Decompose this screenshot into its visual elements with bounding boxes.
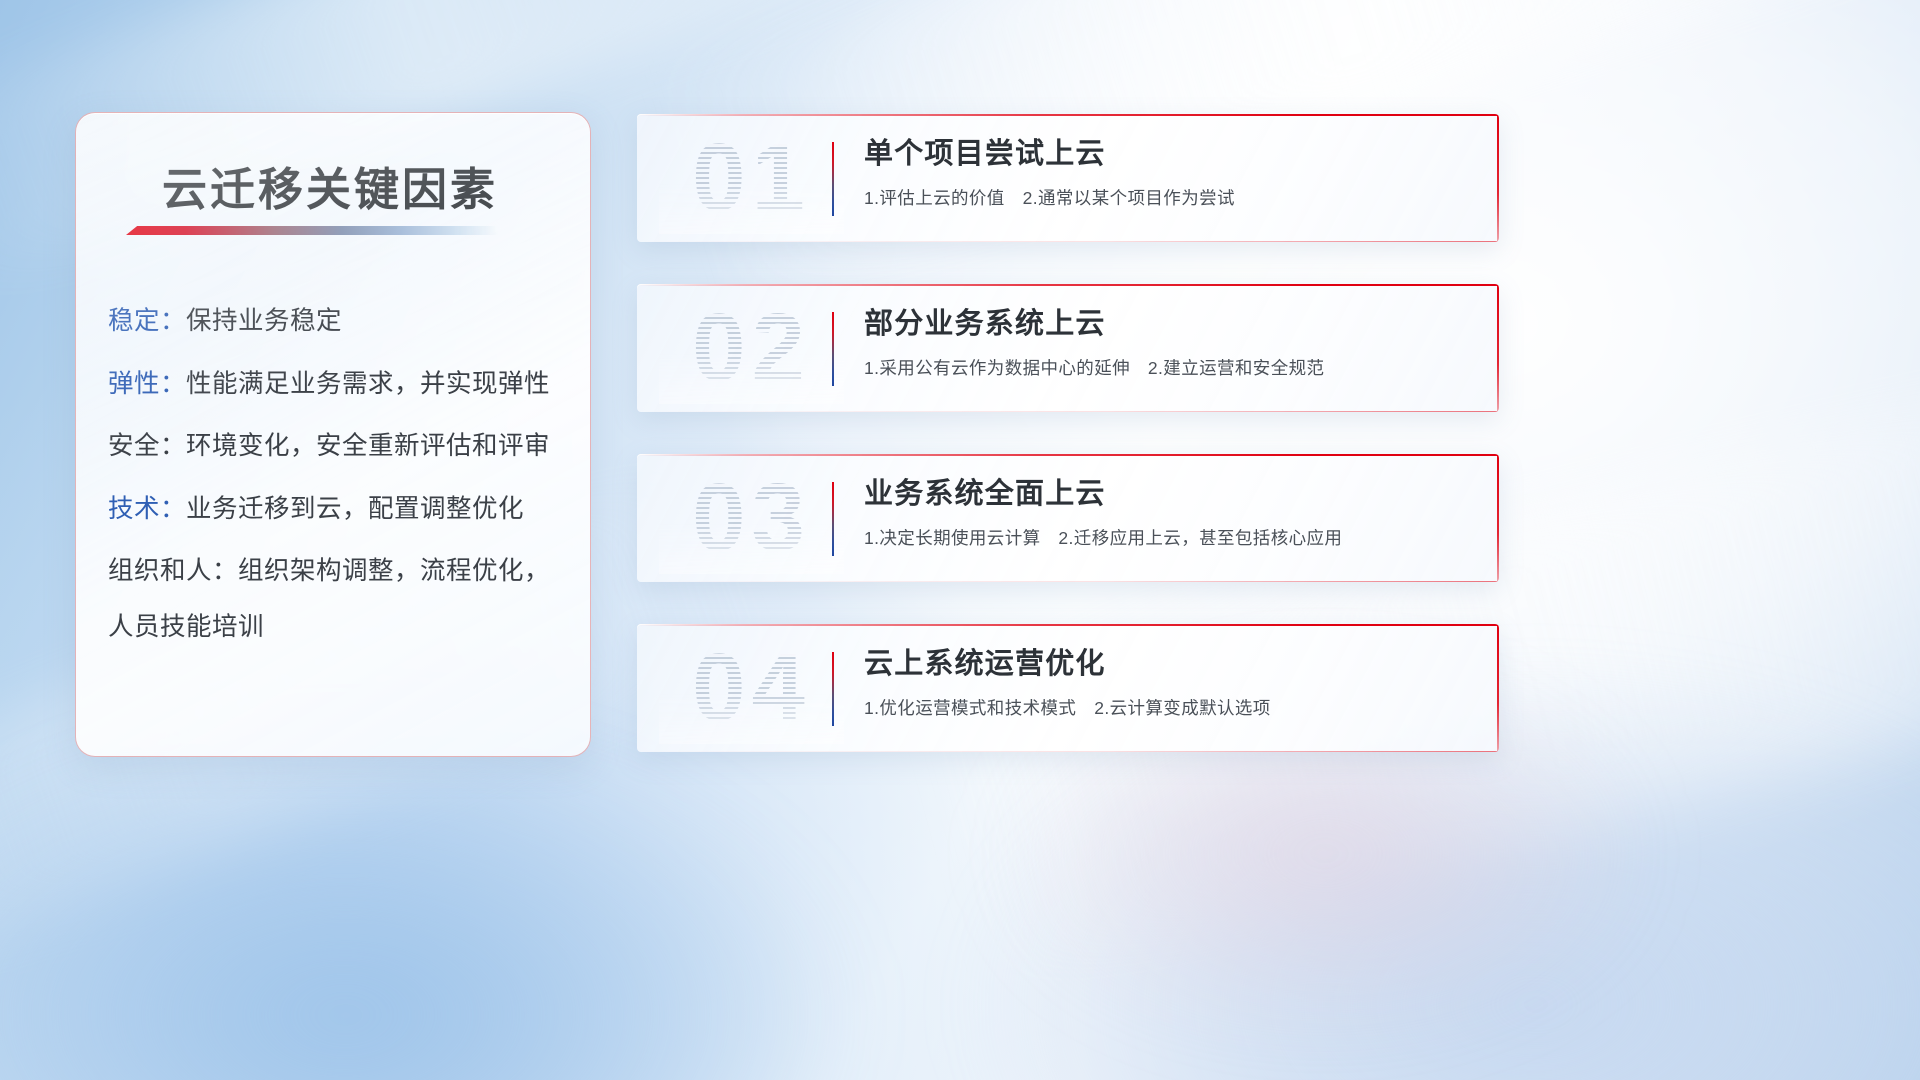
migration-steps-list: 01单个项目尝试上云1.评估上云的价值 2.通常以某个项目作为尝试02部分业务系… [637,114,1499,752]
factor-text: 环境变化，安全重新评估和评审 [186,432,550,460]
card-top-accent-line [637,454,1499,456]
step-body: 部分业务系统上云1.采用公有云作为数据中心的延伸 2.建立运营和安全规范 [833,306,1473,380]
step-description: 1.决定长期使用云计算 2.迁移应用上云，甚至包括核心应用 [864,527,1473,550]
key-factors-panel: 云迁移关键因素 稳定：保持业务稳定弹性：性能满足业务需求，并实现弹性安全：环境变… [75,112,591,757]
card-right-accent-line [1497,114,1499,242]
step-number-watermark: 02 [659,292,844,404]
factor-text: 保持业务稳定 [186,307,342,335]
step-number-watermark: 03 [659,462,844,574]
factor-text: 性能满足业务需求，并实现弹性 [186,370,550,398]
card-bottom-accent-line [637,411,1499,412]
factor-label: 组织和人： [108,557,238,585]
factor-row: 技术：业务迁移到云，配置调整优化 [108,497,570,523]
step-title: 单个项目尝试上云 [864,136,1473,172]
card-bottom-accent-line [637,241,1499,242]
step-title: 云上系统运营优化 [864,646,1473,682]
step-card[interactable]: 02部分业务系统上云1.采用公有云作为数据中心的延伸 2.建立运营和安全规范 [637,284,1499,412]
step-card[interactable]: 03业务系统全面上云1.决定长期使用云计算 2.迁移应用上云，甚至包括核心应用 [637,454,1499,582]
factor-text: 业务迁移到云，配置调整优化 [186,495,524,523]
card-top-accent-line [637,624,1499,626]
factor-list: 稳定：保持业务稳定弹性：性能满足业务需求，并实现弹性安全：环境变化，安全重新评估… [108,309,570,640]
card-top-accent-line [637,114,1499,116]
step-title: 业务系统全面上云 [864,476,1473,512]
factor-label: 弹性： [108,370,186,398]
step-description: 1.采用公有云作为数据中心的延伸 2.建立运营和安全规范 [864,357,1473,380]
factor-row: 安全：环境变化，安全重新评估和评审 [108,434,570,460]
factor-text-continuation: 人员技能培训 [108,615,570,641]
panel-title: 云迁移关键因素 [162,153,498,218]
card-bottom-accent-line [637,581,1499,582]
card-right-accent-line [1497,284,1499,412]
factor-label: 安全： [108,432,186,460]
step-body: 单个项目尝试上云1.评估上云的价值 2.通常以某个项目作为尝试 [833,136,1473,210]
card-right-accent-line [1497,454,1499,582]
slide-stage: 云迁移关键因素 稳定：保持业务稳定弹性：性能满足业务需求，并实现弹性安全：环境变… [0,0,1920,1080]
step-body: 业务系统全面上云1.决定长期使用云计算 2.迁移应用上云，甚至包括核心应用 [833,476,1473,550]
factor-row: 组织和人：组织架构调整，流程优化，人员技能培训 [108,559,570,640]
card-right-accent-line [1497,624,1499,752]
factor-label: 技术： [108,495,186,523]
step-title: 部分业务系统上云 [864,306,1473,342]
step-number-watermark: 01 [659,122,844,234]
factor-row: 弹性：性能满足业务需求，并实现弹性 [108,372,570,398]
step-body: 云上系统运营优化1.优化运营模式和技术模式 2.云计算变成默认选项 [833,646,1473,720]
step-card[interactable]: 04云上系统运营优化1.优化运营模式和技术模式 2.云计算变成默认选项 [637,624,1499,752]
title-underline-bar [126,226,498,235]
factor-row: 稳定：保持业务稳定 [108,309,570,335]
step-number-watermark: 04 [659,632,844,744]
step-description: 1.优化运营模式和技术模式 2.云计算变成默认选项 [864,697,1473,720]
step-description: 1.评估上云的价值 2.通常以某个项目作为尝试 [864,187,1473,210]
card-top-accent-line [637,284,1499,286]
factor-label: 稳定： [108,307,186,335]
factor-text: 组织架构调整，流程优化， [238,557,550,585]
step-card[interactable]: 01单个项目尝试上云1.评估上云的价值 2.通常以某个项目作为尝试 [637,114,1499,242]
card-bottom-accent-line [637,751,1499,752]
